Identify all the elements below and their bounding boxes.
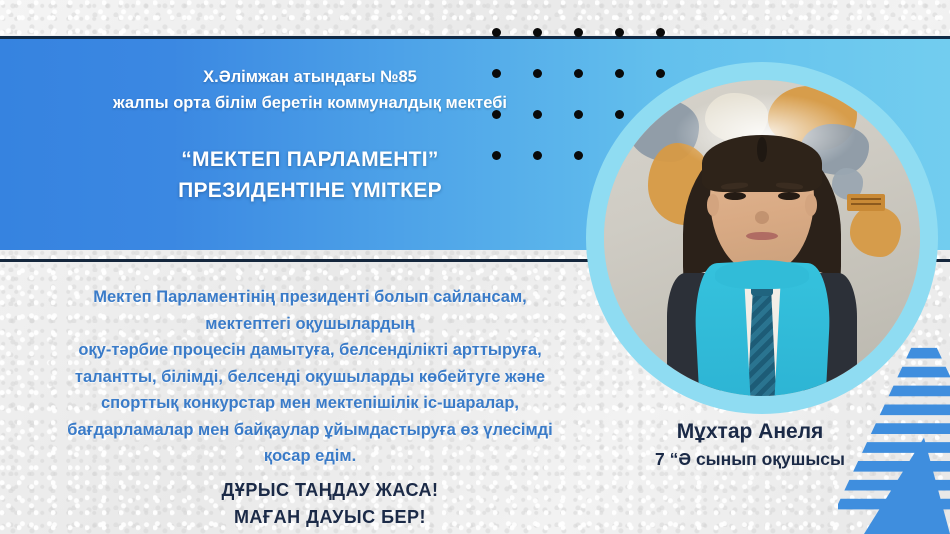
school-name-line-1: Х.Әлімжан атындағы №85 — [0, 36, 620, 90]
statement-line-1: Мектеп Парламентінің президенті болып са… — [0, 284, 620, 311]
cta-line-1: ДҰРЫС ТАҢДАУ ЖАСА! — [0, 477, 660, 504]
statement-line-3: оқу-тәрбие процесін дамытуға, белсенділі… — [0, 337, 620, 364]
poster-canvas: Х.Әлімжан атындағы №85 жалпы орта білім … — [0, 0, 950, 534]
school-name-line-2: жалпы орта білім беретін коммуналдық мек… — [0, 90, 620, 116]
person-ear-left — [707, 194, 720, 216]
person-ear-right — [805, 194, 818, 216]
candidate-photo — [604, 80, 920, 396]
statement-line-2: мектептегі оқушылардың — [0, 311, 620, 338]
candidate-name: Мұхтар Анеля — [600, 418, 900, 446]
candidate-caption: Мұхтар Анеля 7 “Ә сынып оқушысы — [600, 418, 900, 472]
grid-dot — [656, 69, 665, 78]
statement-line-5: спорттық конкурстар мен мектепішілік іс-… — [0, 390, 620, 417]
grid-dot — [656, 28, 665, 37]
poster-title-line-2: ПРЕЗИДЕНТІНЕ ҮМІТКЕР — [0, 175, 620, 206]
world-map-decal-oceania — [850, 206, 901, 257]
statement-line-4: талантты, білімді, белсенді оқушыларды к… — [0, 364, 620, 391]
poster-title-line-1: “МЕКТЕП ПАРЛАМЕНТІ” — [0, 116, 620, 175]
statement-line-6: бағдарламалар мен байқаулар ұйымдастыруғ… — [0, 417, 620, 444]
header-text-block: Х.Әлімжан атындағы №85 жалпы орта білім … — [0, 36, 620, 250]
person-scarf-neck — [715, 260, 810, 288]
triangle-stripe — [880, 404, 950, 415]
call-to-action: ДҰРЫС ТАҢДАУ ЖАСА! МАҒАН ДАУЫС БЕР! — [0, 477, 660, 531]
cta-line-2: МАҒАН ДАУЫС БЕР! — [0, 504, 660, 531]
wall-label-plate — [847, 194, 885, 211]
candidate-photo-ring — [586, 62, 938, 414]
person-nose — [755, 211, 769, 224]
person-hair-part — [757, 137, 766, 162]
candidate-statement: Мектеп Парламентінің президенті болып са… — [0, 284, 620, 470]
person-mouth — [746, 232, 778, 240]
candidate-class: 7 “Ә сынып оқушысы — [600, 446, 900, 472]
statement-line-7: қосар едім. — [0, 443, 620, 470]
